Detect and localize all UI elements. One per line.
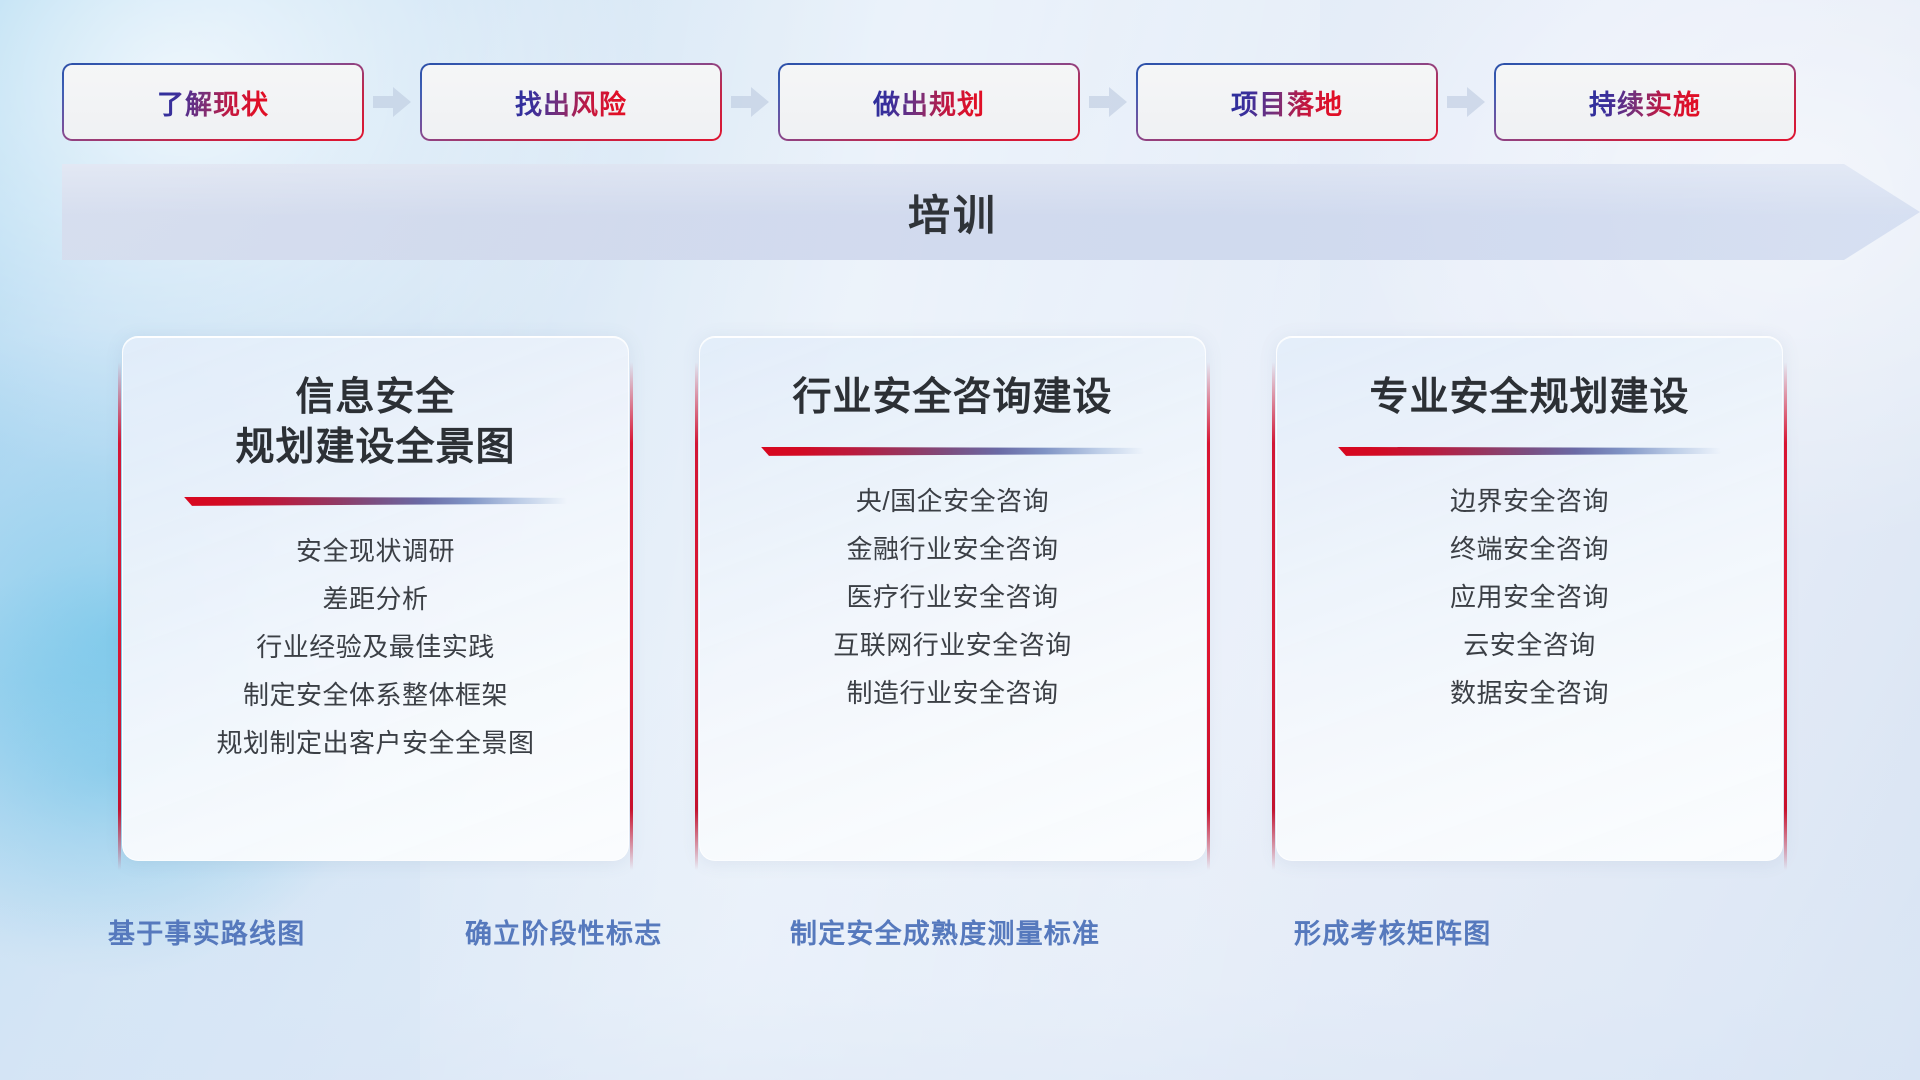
card-item-list: 边界安全咨询 终端安全咨询 应用安全咨询 云安全咨询 数据安全咨询 xyxy=(1307,480,1752,715)
list-item: 制造行业安全咨询 xyxy=(846,672,1058,714)
process-step-1[interactable]: 了解现状 xyxy=(62,63,364,141)
capability-card-2-wrapper: 行业安全咨询建设 央/国企安全咨询 金融行业安全咨询 医疗行业安全咨询 互联网行… xyxy=(695,336,1210,876)
outcome-label-4: 形成考核矩阵图 xyxy=(1294,912,1491,951)
card-item-list: 央/国企安全咨询 金融行业安全咨询 医疗行业安全咨询 互联网行业安全咨询 制造行… xyxy=(730,480,1175,715)
list-item: 行业经验及最佳实践 xyxy=(256,626,495,668)
capability-card-1[interactable]: 信息安全 规划建设全景图 安全现状调研 差距分析 行业经验及最佳实践 制定安全体… xyxy=(122,336,629,861)
capability-card-row: 信息安全 规划建设全景图 安全现状调研 差距分析 行业经验及最佳实践 制定安全体… xyxy=(0,336,1920,876)
outcome-label-2: 确立阶段性标志 xyxy=(465,912,662,951)
list-item: 医疗行业安全咨询 xyxy=(846,576,1058,618)
list-item: 差距分析 xyxy=(322,578,428,620)
process-step-label: 了解现状 xyxy=(157,83,269,122)
card-title: 专业安全规划建设 xyxy=(1369,373,1689,423)
process-step-5[interactable]: 持续实施 xyxy=(1494,63,1796,141)
capability-card-3-wrapper: 专业安全规划建设 边界安全咨询 终端安全咨询 应用安全咨询 云安全咨询 数据安全… xyxy=(1272,336,1787,876)
list-item: 安全现状调研 xyxy=(296,530,455,572)
process-step-label: 找出风险 xyxy=(515,83,627,122)
list-item: 制定安全体系整体框架 xyxy=(243,674,508,716)
process-step-label: 持续实施 xyxy=(1589,83,1701,122)
outcome-label-row: 基于事实路线图 确立阶段性标志 制定安全成熟度测量标准 形成考核矩阵图 xyxy=(0,912,1920,972)
list-item: 云安全咨询 xyxy=(1463,624,1596,666)
card-item-list: 安全现状调研 差距分析 行业经验及最佳实践 制定安全体系整体框架 规划制定出客户… xyxy=(153,530,598,765)
arrow-right-icon xyxy=(722,82,778,122)
outcome-label-3: 制定安全成熟度测量标准 xyxy=(790,912,1100,951)
card-divider xyxy=(1338,445,1721,456)
arrow-right-icon xyxy=(364,82,420,122)
outcome-label-1: 基于事实路线图 xyxy=(108,912,305,951)
list-item: 规划制定出客户安全全景图 xyxy=(216,722,534,764)
banner-title: 培训 xyxy=(62,164,1844,260)
list-item: 央/国企安全咨询 xyxy=(856,480,1049,522)
card-divider xyxy=(184,495,567,506)
capability-card-3[interactable]: 专业安全规划建设 边界安全咨询 终端安全咨询 应用安全咨询 云安全咨询 数据安全… xyxy=(1276,336,1783,861)
list-item: 边界安全咨询 xyxy=(1450,480,1609,522)
training-banner: 培训 xyxy=(62,164,1920,260)
arrow-right-icon xyxy=(1080,82,1136,122)
process-step-flow: 了解现状 找出风险 做出规划 项目落地 持续实施 xyxy=(0,62,1920,142)
list-item: 终端安全咨询 xyxy=(1450,528,1609,570)
process-step-label: 做出规划 xyxy=(873,83,985,122)
list-item: 互联网行业安全咨询 xyxy=(833,624,1072,666)
capability-card-1-wrapper: 信息安全 规划建设全景图 安全现状调研 差距分析 行业经验及最佳实践 制定安全体… xyxy=(118,336,633,876)
card-divider xyxy=(761,445,1144,456)
list-item: 数据安全咨询 xyxy=(1450,672,1609,714)
card-title: 信息安全 规划建设全景图 xyxy=(235,373,515,473)
process-step-4[interactable]: 项目落地 xyxy=(1136,63,1438,141)
list-item: 应用安全咨询 xyxy=(1450,576,1609,618)
capability-card-2[interactable]: 行业安全咨询建设 央/国企安全咨询 金融行业安全咨询 医疗行业安全咨询 互联网行… xyxy=(699,336,1206,861)
process-step-label: 项目落地 xyxy=(1231,83,1343,122)
list-item: 金融行业安全咨询 xyxy=(846,528,1058,570)
arrow-right-icon xyxy=(1438,82,1494,122)
card-title: 行业安全咨询建设 xyxy=(792,373,1112,423)
process-step-2[interactable]: 找出风险 xyxy=(420,63,722,141)
process-step-3[interactable]: 做出规划 xyxy=(778,63,1080,141)
